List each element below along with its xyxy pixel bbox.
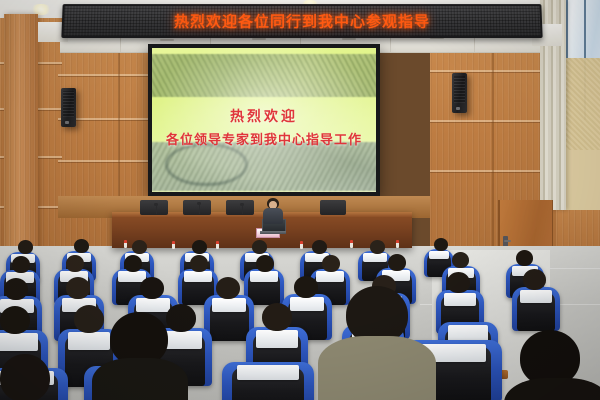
water-bottle [350, 240, 353, 248]
attendee-head [66, 255, 84, 272]
table-microphone [199, 204, 200, 214]
soffit-vent [252, 38, 266, 40]
attendee-head [12, 256, 30, 273]
wall-speaker-right [452, 73, 467, 113]
headrest-cover [136, 298, 170, 312]
water-bottle [300, 241, 303, 249]
presenter [262, 198, 284, 224]
attendee-head [18, 240, 33, 254]
head-table-chair[interactable] [320, 200, 346, 215]
headrest-cover [237, 365, 300, 380]
wall-seam [58, 74, 158, 76]
attendee-head [434, 238, 448, 251]
water-bottle [124, 240, 127, 248]
projected-slide: 热烈欢迎 各位领导专家到我中心指导工作 [152, 48, 376, 192]
attendee-head [294, 276, 318, 298]
attendee-head [124, 255, 142, 272]
attendee-head [523, 269, 546, 290]
headrest-cover [290, 297, 324, 311]
headrest-cover [520, 290, 553, 303]
speaker-grille [454, 76, 465, 103]
attendee-head [216, 277, 240, 299]
table-microphone [242, 205, 243, 214]
attendee-head [190, 255, 208, 272]
headrest-cover [444, 293, 477, 306]
attendee-head [74, 239, 89, 253]
slide-subheadline: 各位领导专家到我中心指导工作 [152, 129, 376, 148]
attendee-head [452, 252, 469, 268]
headrest-cover [184, 271, 211, 282]
attendee-head [256, 255, 274, 272]
wall-vertical-seam [118, 40, 120, 198]
presenter-laptop-base [260, 231, 286, 234]
attendee-head [252, 240, 267, 254]
table-microphone-head [154, 203, 158, 206]
attendee-head [4, 278, 28, 300]
attendee-head [322, 255, 340, 272]
seat[interactable] [512, 287, 560, 331]
table-microphone [156, 205, 157, 214]
water-bottle [172, 241, 175, 249]
attendee-head [74, 305, 104, 333]
speaker-indicator-led [456, 107, 460, 110]
attendee-head [388, 254, 406, 271]
attendee-head [140, 277, 164, 299]
attendee-head [0, 306, 30, 334]
attendee-head [447, 272, 470, 293]
slide-headline: 热烈欢迎 [152, 106, 376, 126]
speaker-indicator-led [65, 121, 69, 124]
attendee-head [132, 240, 147, 254]
led-banner-text: 热烈欢迎各位同行到我中心参观指导 [64, 11, 541, 32]
door-handle[interactable] [504, 240, 511, 242]
headrest-cover [68, 332, 110, 349]
table-microphone-head [197, 202, 201, 205]
attendee-head [0, 354, 50, 400]
attendee-head [166, 304, 196, 332]
headrest-cover [316, 271, 343, 282]
attendee-shoulders [318, 336, 436, 400]
projection-screen: 热烈欢迎 各位领导专家到我中心指导工作 [148, 44, 380, 196]
wall-speaker-left [61, 88, 76, 127]
led-display-banner: 热烈欢迎各位同行到我中心参观指导 [61, 4, 542, 38]
water-bottle [396, 240, 399, 248]
speaker-grille [63, 91, 74, 117]
water-bottle [216, 241, 219, 249]
attendee-head [262, 303, 292, 331]
seat[interactable] [222, 362, 314, 400]
wall-vertical-seam [492, 40, 494, 280]
wall-seam [58, 160, 158, 162]
headrest-cover [250, 271, 277, 282]
attendee-head [192, 240, 207, 254]
attendee-head [312, 240, 327, 254]
attendee-head [370, 240, 385, 254]
headrest-cover [429, 251, 449, 259]
far-wall-panel [560, 150, 600, 210]
headrest-cover [212, 298, 246, 312]
attendee-head [66, 277, 90, 299]
attendee-head [516, 250, 533, 266]
headrest-cover [0, 333, 38, 350]
soffit-vent [160, 39, 174, 41]
attendee-shoulders [92, 358, 188, 400]
auditorium-photo: 热烈欢迎各位同行到我中心参观指导 热烈欢迎 各位领导专家到我中心指导工作 [0, 0, 600, 400]
table-microphone-head [240, 203, 244, 206]
headrest-cover [363, 253, 386, 262]
soffit-vent [342, 38, 356, 40]
presenter-torso [263, 208, 283, 224]
headrest-cover [256, 330, 298, 347]
